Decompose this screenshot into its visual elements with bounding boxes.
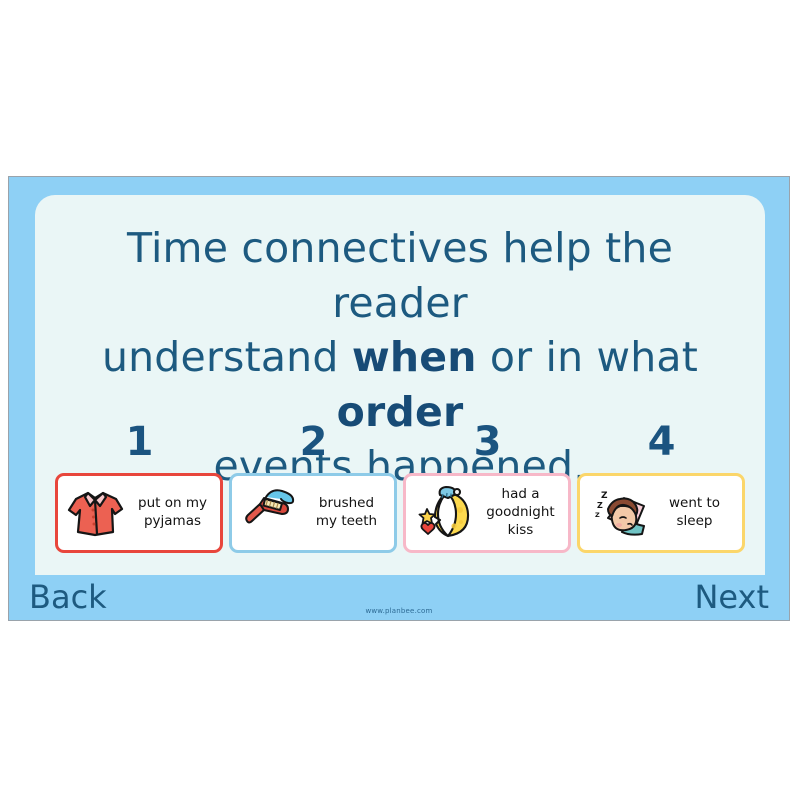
step-4-card[interactable]: Z Z Z went to sleep xyxy=(577,473,745,553)
step-2-label-line-1: brushed xyxy=(319,495,374,511)
sleeping-child-icon: Z Z Z xyxy=(585,480,651,546)
step-2: 2 xyxy=(229,422,397,553)
svg-text:Z: Z xyxy=(595,511,600,519)
sequence-steps-row: 1 xyxy=(55,403,745,553)
step-4-label: went to sleep xyxy=(654,495,737,531)
step-2-number: 2 xyxy=(300,422,327,462)
step-1-number: 1 xyxy=(126,422,153,462)
watermark: www.planbee.com xyxy=(344,604,454,617)
step-1-label-line-1: put on my xyxy=(138,495,207,511)
step-1: 1 xyxy=(55,422,223,553)
step-3-label-line-2: goodnight xyxy=(486,504,554,520)
step-1-label: put on my pyjamas xyxy=(132,495,215,531)
step-4-number: 4 xyxy=(648,422,675,462)
step-4-label-line-1: went to xyxy=(669,495,720,511)
svg-text:Z: Z xyxy=(597,501,603,510)
step-3-card[interactable]: had a goodnight kiss xyxy=(403,473,571,553)
step-3-label: had a goodnight kiss xyxy=(480,486,563,539)
step-3-label-line-1: had a xyxy=(502,486,540,502)
back-button[interactable]: Back xyxy=(9,575,169,620)
step-2-card[interactable]: brushed my teeth xyxy=(229,473,397,553)
pyjamas-icon xyxy=(63,480,129,546)
step-2-label-line-2: my teeth xyxy=(316,513,377,529)
title-line-2-part-1: understand xyxy=(102,333,352,381)
step-1-card[interactable]: put on my pyjamas xyxy=(55,473,223,553)
slide-content-panel: Time connectives help the reader underst… xyxy=(35,195,765,577)
title-line-2-part-2: or in what xyxy=(477,333,698,381)
slide-frame: Time connectives help the reader underst… xyxy=(8,176,790,621)
step-3-number: 3 xyxy=(474,422,501,462)
step-1-label-line-2: pyjamas xyxy=(144,513,201,529)
step-3-label-line-3: kiss xyxy=(508,522,534,538)
title-line-1: Time connectives help the reader xyxy=(127,224,673,327)
step-3: 3 xyxy=(403,422,571,553)
svg-text:Z: Z xyxy=(601,491,608,501)
next-button[interactable]: Next xyxy=(629,575,789,620)
step-4-label-line-2: sleep xyxy=(677,513,713,529)
step-4: 4 xyxy=(577,422,745,553)
toothbrush-icon xyxy=(237,480,303,546)
step-2-label: brushed my teeth xyxy=(306,495,389,531)
moon-icon xyxy=(411,480,477,546)
slide-navigation-bar: Back Next www.planbee.com xyxy=(9,575,789,620)
title-emphasis-when: when xyxy=(352,333,477,381)
